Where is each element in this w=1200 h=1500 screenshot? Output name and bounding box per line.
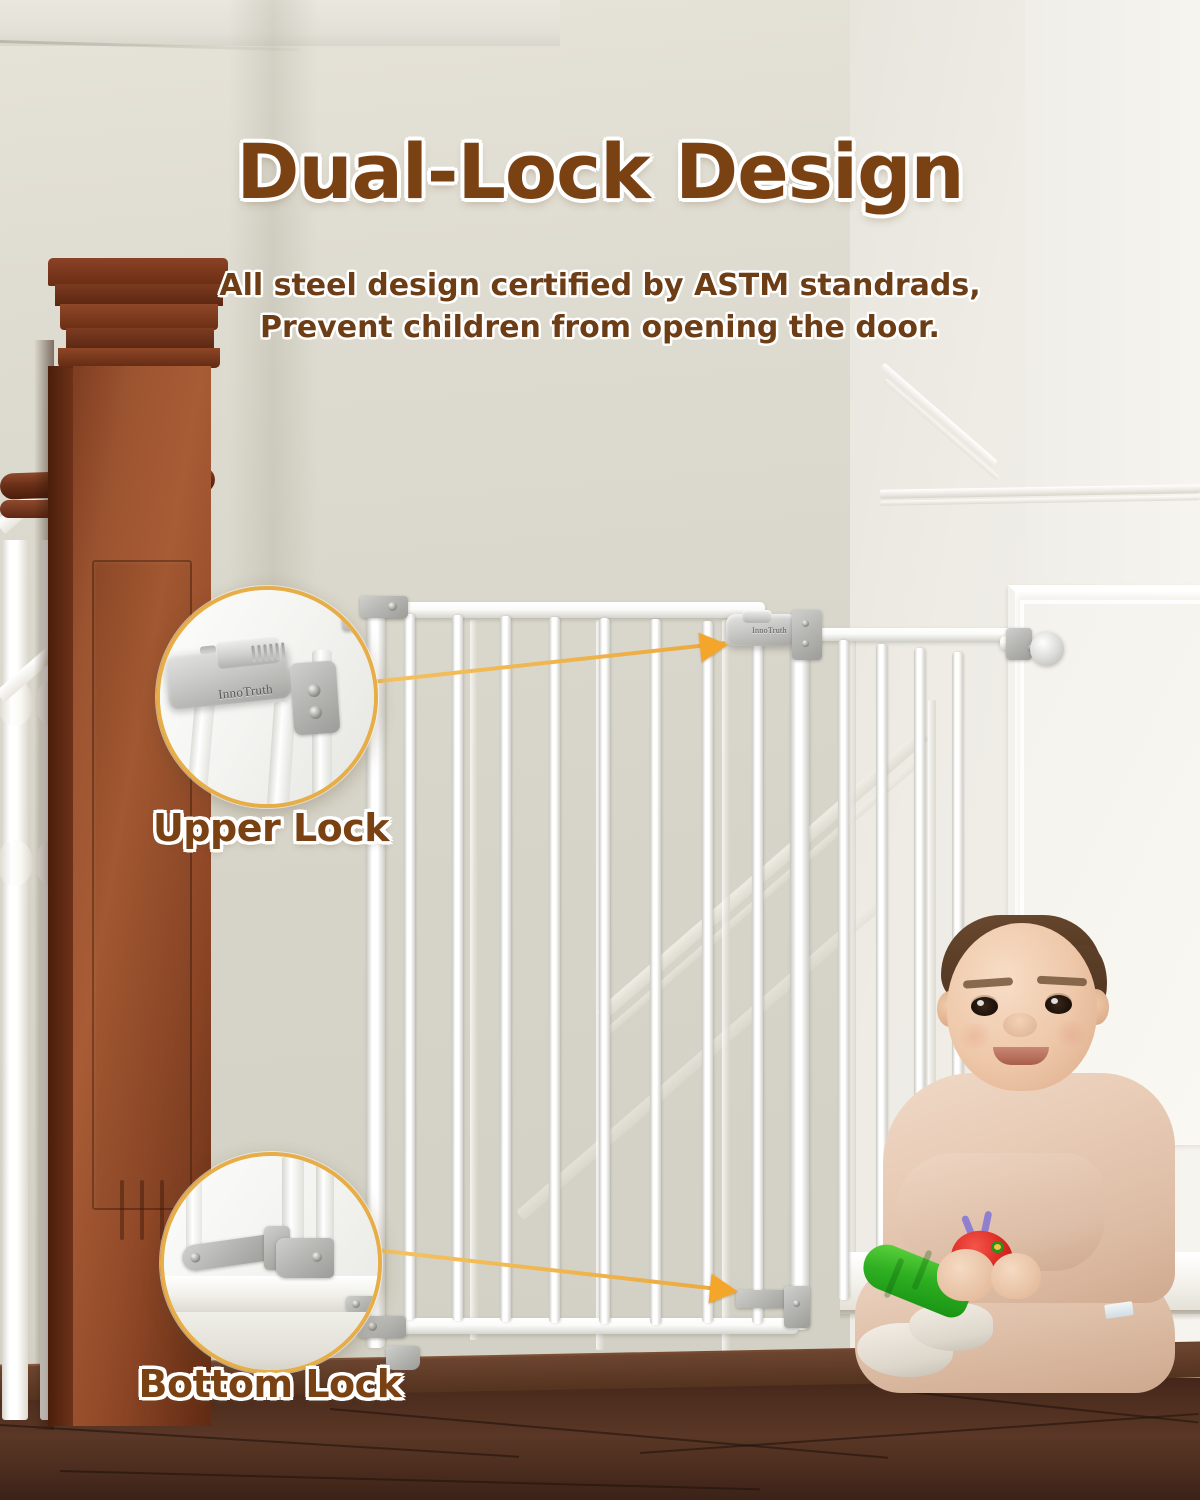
- bracket-screw: [364, 617, 373, 626]
- wainscot-joint-3: [722, 620, 730, 1355]
- child-hand-right: [991, 1253, 1041, 1299]
- gate-right-stile: [790, 630, 809, 1330]
- bracket-screw: [352, 1300, 360, 1308]
- bottom-lock-bracket-detail: [276, 1238, 334, 1278]
- gate-bar: [404, 614, 415, 1320]
- gate-bar: [702, 621, 713, 1323]
- callout-gate-foot-bracket: [346, 1296, 380, 1312]
- newel-post-side: [48, 366, 74, 1426]
- bracket-screw: [802, 620, 809, 627]
- newel-post-flute-2: [140, 1180, 144, 1240]
- child-subject: [855, 905, 1200, 1405]
- newel-post-cap-5: [58, 348, 220, 368]
- callout-bottom-lock[interactable]: [160, 1152, 382, 1374]
- product-marketing-image: InnoTruth: [0, 0, 1200, 1500]
- gate-bottom-rail: [368, 1318, 798, 1334]
- callout-label-bottom-lock: Bottom Lock: [120, 1362, 420, 1406]
- gate-bar: [549, 617, 560, 1323]
- upper-lock-grip-ridges: [251, 642, 286, 662]
- child-nose: [1003, 1013, 1037, 1037]
- bracket-screw: [312, 1252, 322, 1262]
- upper-lock-release-notch: [200, 645, 217, 655]
- bracket-screw: [388, 602, 397, 611]
- child-cheek-left: [955, 1023, 995, 1049]
- child-hand-left: [937, 1249, 995, 1301]
- callout-label-upper-lock: Upper Lock: [136, 806, 406, 850]
- child-head: [947, 923, 1097, 1091]
- upper-lock-brand-label: InnoTruth: [752, 626, 787, 635]
- gate-bar: [752, 624, 763, 1324]
- gate-bar: [650, 619, 661, 1325]
- upper-lock-slide-button: [742, 610, 772, 623]
- wall-pressure-cup: [1030, 632, 1064, 666]
- child-eye-right: [1045, 995, 1072, 1014]
- gate-bar: [599, 618, 610, 1324]
- bracket-screw: [190, 1252, 201, 1263]
- bracket-screw: [309, 706, 323, 720]
- bracket-screw: [802, 640, 809, 647]
- wainscot-joint-1: [470, 620, 478, 1340]
- callout-upper-lock-photo: InnoTruth: [160, 590, 374, 804]
- subtitle-line-2: Prevent children from opening the door.: [0, 308, 1200, 348]
- gate-wall-mount-bracket: [1006, 628, 1032, 660]
- child-cheek-right: [1051, 1021, 1091, 1047]
- upper-lock-bracket: [792, 610, 822, 660]
- gate-top-rail: [365, 602, 765, 618]
- gate-bar: [452, 615, 463, 1321]
- bottom-lock-arrow-head: [709, 1274, 740, 1307]
- callout-top-bracket: [341, 613, 378, 632]
- bottom-lock-bracket: [784, 1286, 810, 1328]
- callout-bottom-lock-photo: [164, 1156, 378, 1370]
- bracket-screw: [793, 1300, 800, 1307]
- bracket-screw: [307, 684, 321, 698]
- upper-lock-arrow-head: [699, 630, 730, 663]
- gate-extension-bar: [838, 640, 849, 1300]
- child-eye-left: [971, 997, 998, 1016]
- toy-dot-2: [991, 1241, 1004, 1253]
- callout-upper-lock[interactable]: InnoTruth: [156, 586, 378, 808]
- subtitle-line-1: All steel design certified by ASTM stand…: [0, 266, 1200, 306]
- newel-post-flute-1: [120, 1180, 124, 1240]
- upper-lock-bracket-detail: [290, 660, 341, 735]
- gate-bar: [500, 616, 511, 1322]
- page-title: Dual-Lock Design: [0, 134, 1200, 210]
